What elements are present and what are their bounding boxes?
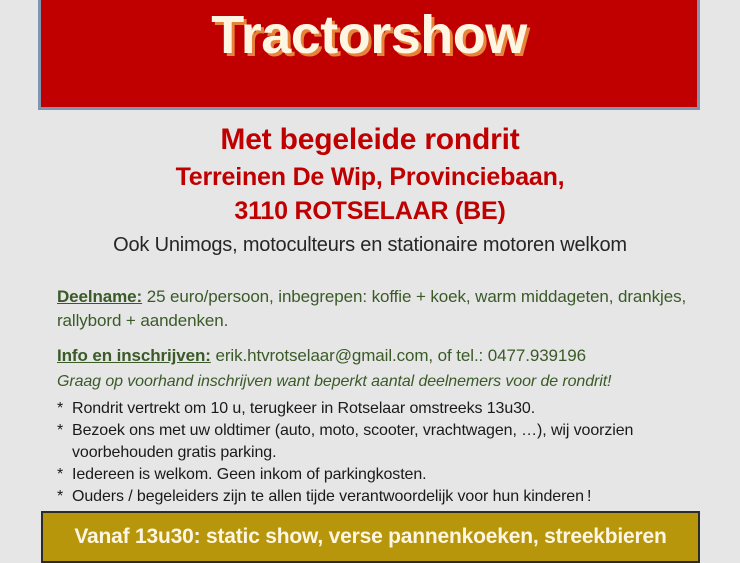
participation-fee-paragraph: Deelname: 25 euro/persoon, inbegrepen: k…	[57, 285, 697, 333]
participation-fee-text: 25 euro/persoon, inbegrepen: koffie + ko…	[57, 287, 686, 330]
bullet-marker-icon: *	[57, 398, 72, 419]
participation-fee-label: Deelname:	[57, 287, 142, 306]
list-item: *Bezoek ons met uw oldtimer (auto, moto,…	[57, 420, 707, 463]
hero-banner: Oldtimer- & Classic Tractorshow	[38, 0, 700, 110]
list-item-text: Bezoek ons met uw oldtimer (auto, moto, …	[72, 422, 633, 460]
list-item-text: Rondrit vertrekt om 10 u, terugkeer in R…	[72, 400, 535, 417]
subtitle-block: Met begeleide rondrit Terreinen De Wip, …	[0, 120, 740, 259]
list-item: *Iedereen is welkom. Geen inkom of parki…	[57, 464, 707, 485]
hero-title-line-1: Oldtimer- & Classic	[134, 0, 604, 2]
venue-address-line-2: 3110 ROTSELAAR (BE)	[0, 194, 740, 228]
venue-address-line-1: Terreinen De Wip, Provinciebaan,	[0, 160, 740, 194]
list-item: *Ouders / begeleiders zijn te allen tijd…	[57, 486, 707, 507]
contact-paragraph: Info en inschrijven: erik.htvrotselaar@g…	[57, 344, 697, 368]
welcome-note: Ook Unimogs, motoculteurs en stationaire…	[0, 231, 740, 259]
registration-note: Graag op voorhand inschrijven want beper…	[57, 371, 697, 393]
contact-label: Info en inschrijven:	[57, 346, 211, 365]
hero-title-line-2: Tractorshow	[211, 8, 527, 63]
event-subtitle: Met begeleide rondrit	[0, 120, 740, 160]
contact-details[interactable]: erik.htvrotselaar@gmail.com, of tel.: 04…	[211, 346, 586, 365]
footer-banner-text: Vanaf 13u30: static show, verse pannenko…	[74, 525, 666, 549]
list-item: *Rondrit vertrekt om 10 u, terugkeer in …	[57, 398, 707, 419]
list-item-text: Ouders / begeleiders zijn te allen tijde…	[72, 488, 591, 505]
bullet-list: *Rondrit vertrekt om 10 u, terugkeer in …	[57, 398, 707, 508]
info-block: Deelname: 25 euro/persoon, inbegrepen: k…	[57, 285, 697, 394]
list-item-text: Iedereen is welkom. Geen inkom of parkin…	[72, 466, 427, 483]
bullet-marker-icon: *	[57, 420, 72, 441]
footer-banner: Vanaf 13u30: static show, verse pannenko…	[41, 511, 700, 563]
bullet-marker-icon: *	[57, 464, 72, 485]
bullet-marker-icon: *	[57, 486, 72, 507]
